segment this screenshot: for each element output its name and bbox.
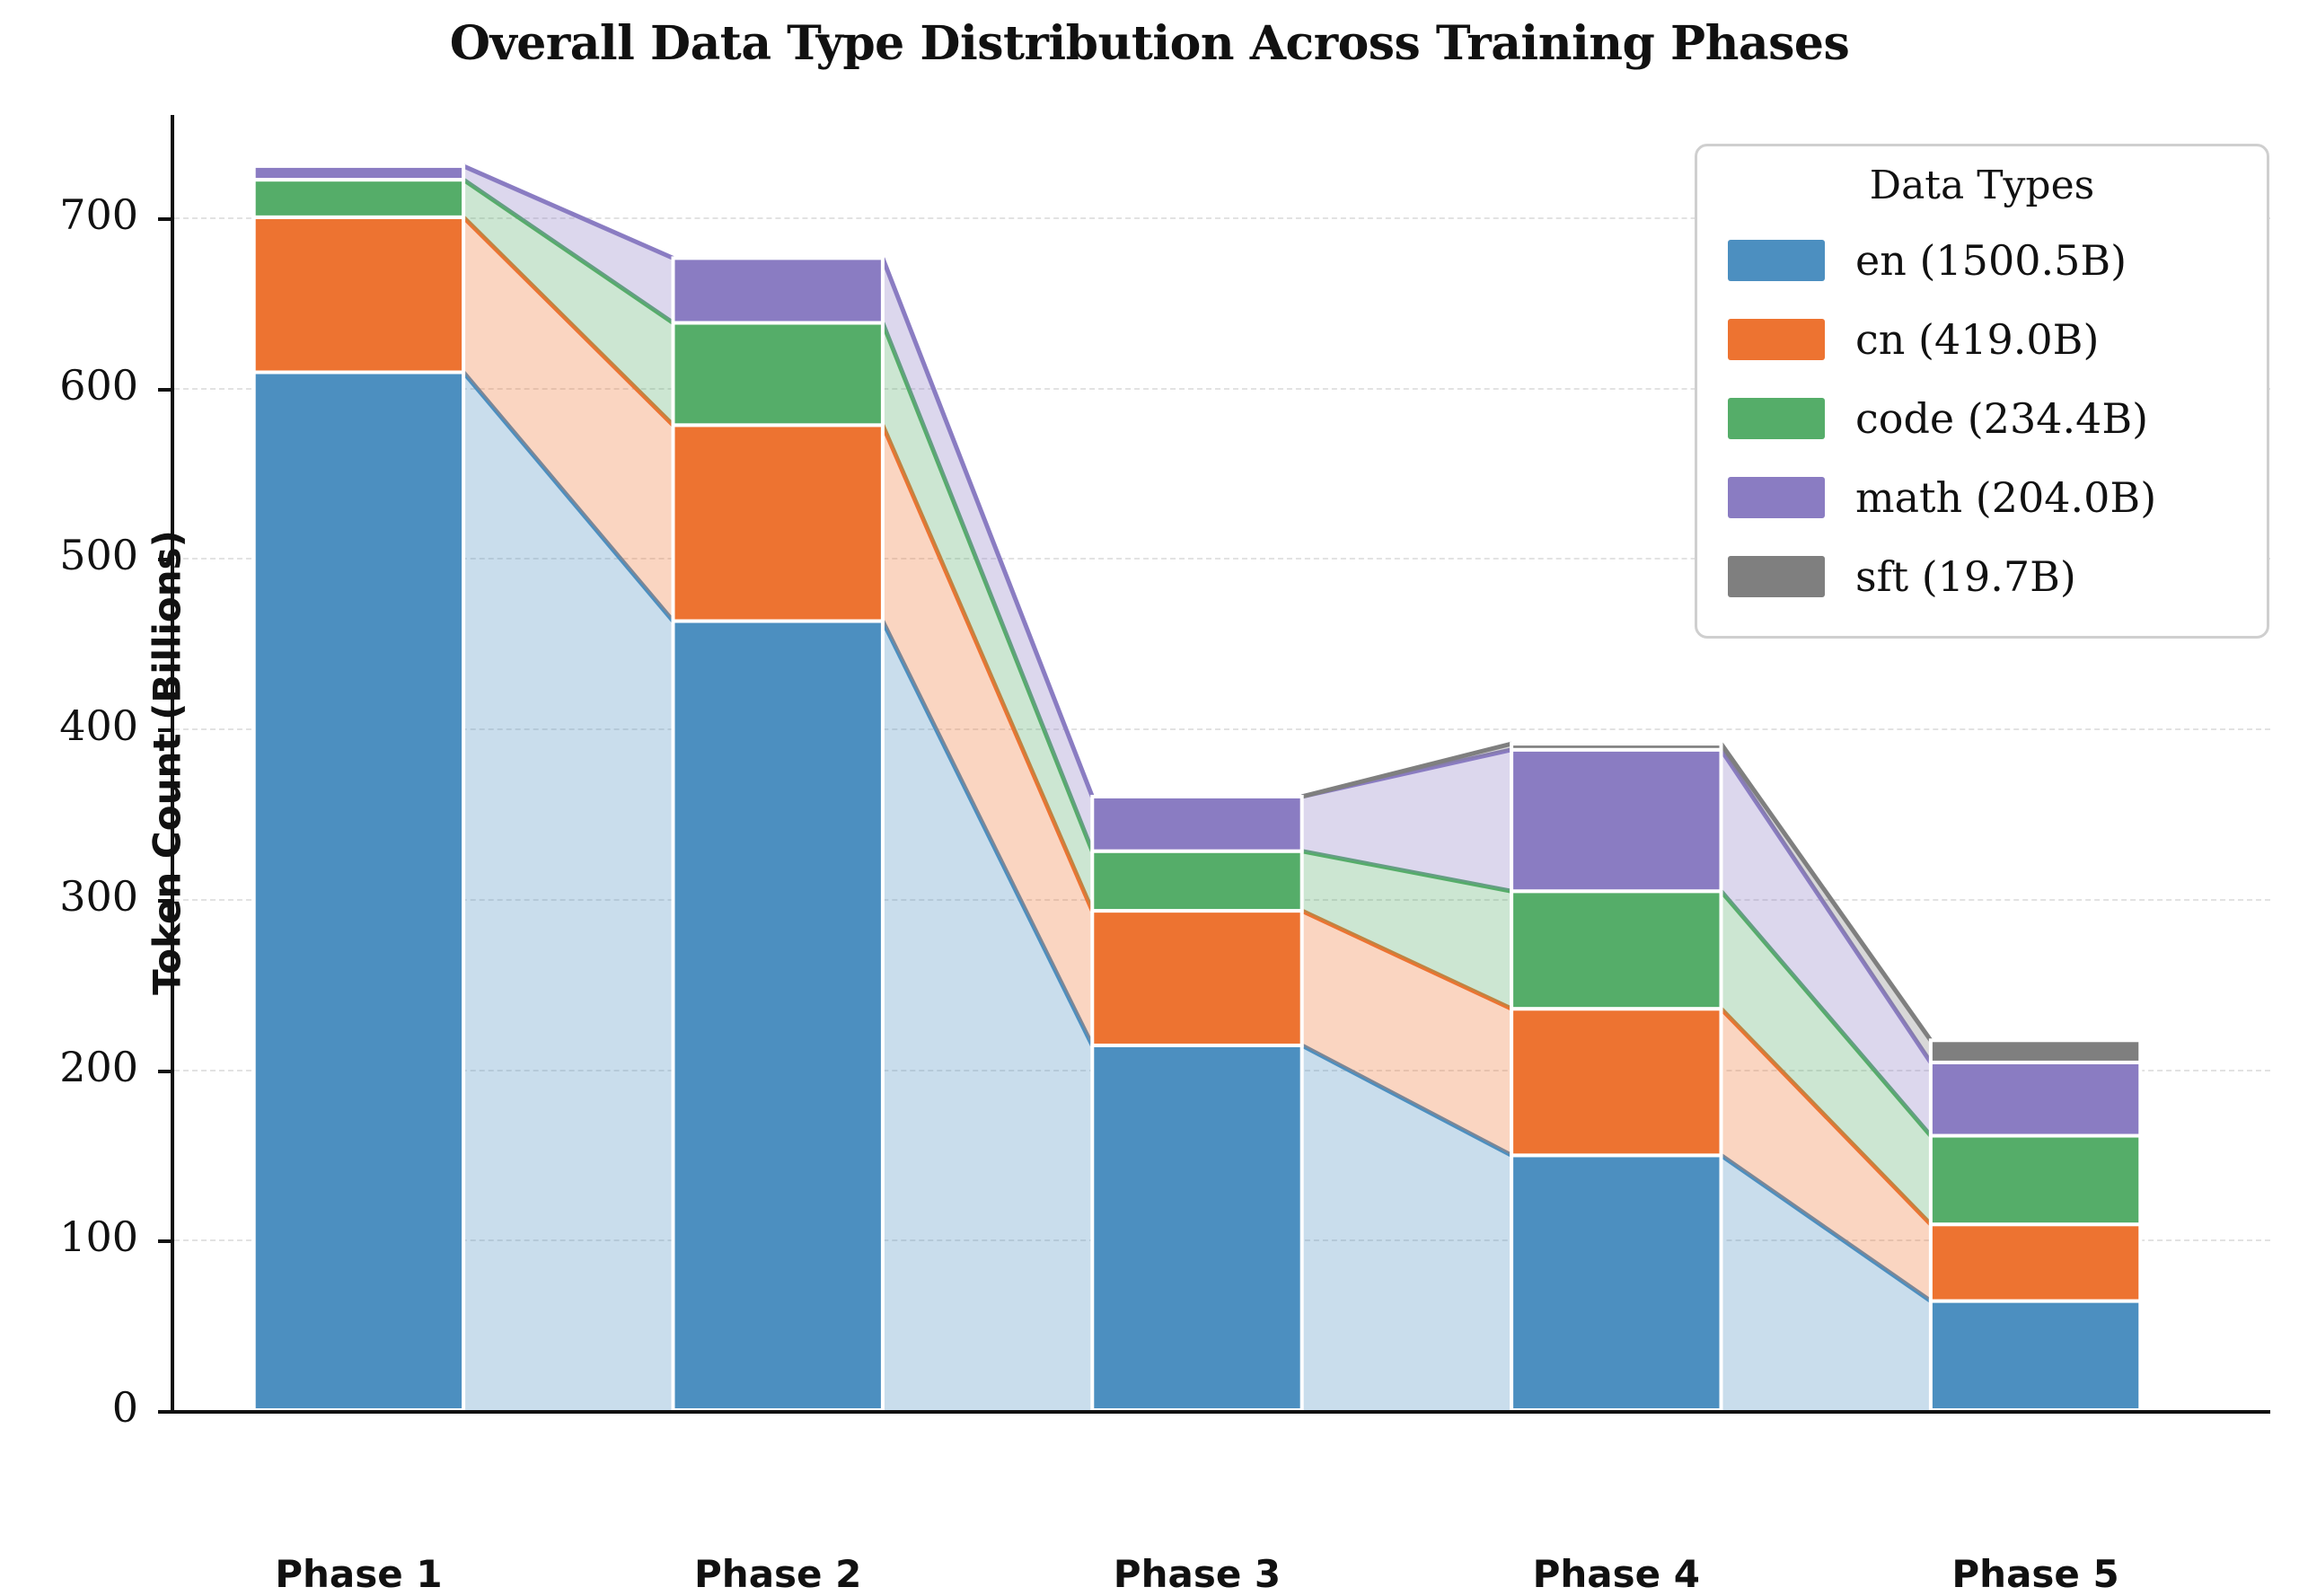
y-tick-label: 700 bbox=[0, 190, 138, 239]
legend-swatch-icon bbox=[1728, 240, 1825, 281]
legend-title: Data Types bbox=[1721, 163, 2243, 208]
legend-item[interactable]: code (234.4B) bbox=[1721, 379, 2243, 458]
bar-segment-cn-phase2[interactable] bbox=[673, 425, 882, 621]
legend-items: en (1500.5B)cn (419.0B)code (234.4B)math… bbox=[1721, 221, 2243, 616]
legend-item[interactable]: en (1500.5B) bbox=[1721, 221, 2243, 300]
y-tick-mark bbox=[158, 217, 174, 221]
bar-segment-en-phase2[interactable] bbox=[673, 622, 882, 1410]
bar-segment-en-phase4[interactable] bbox=[1511, 1155, 1721, 1410]
bar-segment-math-phase1[interactable] bbox=[254, 166, 463, 180]
legend-swatch-icon bbox=[1728, 477, 1825, 518]
bar-segment-math-phase4[interactable] bbox=[1511, 750, 1721, 891]
legend-swatch-icon bbox=[1728, 319, 1825, 360]
y-tick-label: 600 bbox=[0, 361, 138, 410]
x-tick-label: Phase 5 bbox=[1951, 1552, 2118, 1596]
legend-swatch-icon bbox=[1728, 556, 1825, 597]
y-tick-label: 200 bbox=[0, 1043, 138, 1091]
bar-segment-cn-phase3[interactable] bbox=[1092, 911, 1301, 1045]
y-tick-label: 400 bbox=[0, 701, 138, 750]
bar-segment-sft-phase4[interactable] bbox=[1511, 744, 1721, 750]
y-tick-mark bbox=[158, 1410, 174, 1414]
legend-item[interactable]: sft (19.7B) bbox=[1721, 537, 2243, 616]
legend-item[interactable]: math (204.0B) bbox=[1721, 458, 2243, 537]
bar-segment-sft-phase5[interactable] bbox=[1931, 1040, 2140, 1063]
bar-segment-code-phase4[interactable] bbox=[1511, 891, 1721, 1009]
bar-segment-cn-phase1[interactable] bbox=[254, 217, 463, 373]
y-axis-label: Token Count (Billions) bbox=[145, 530, 189, 995]
y-tick-mark bbox=[158, 1239, 174, 1243]
bar-segment-code-phase2[interactable] bbox=[673, 322, 882, 425]
bar-segment-cn-phase5[interactable] bbox=[1931, 1224, 2140, 1301]
bar-segment-code-phase3[interactable] bbox=[1092, 851, 1301, 911]
y-tick-mark bbox=[158, 388, 174, 392]
x-tick-label: Phase 4 bbox=[1533, 1552, 1700, 1596]
legend-item-label: sft (19.7B) bbox=[1855, 552, 2076, 601]
chart-root: Overall Data Type Distribution Across Tr… bbox=[0, 0, 2299, 1517]
y-tick-label: 300 bbox=[0, 872, 138, 921]
x-tick-label: Phase 2 bbox=[694, 1552, 861, 1596]
legend-item-label: cn (419.0B) bbox=[1855, 315, 2099, 364]
y-tick-label: 0 bbox=[0, 1383, 138, 1432]
bar-segment-cn-phase4[interactable] bbox=[1511, 1009, 1721, 1155]
bar-segment-en-phase3[interactable] bbox=[1092, 1045, 1301, 1410]
x-tick-label: Phase 3 bbox=[1114, 1552, 1281, 1596]
page-title: Overall Data Type Distribution Across Tr… bbox=[0, 16, 2299, 71]
y-tick-label: 100 bbox=[0, 1212, 138, 1261]
legend-item-label: code (234.4B) bbox=[1855, 394, 2148, 443]
bar-segment-math-phase5[interactable] bbox=[1931, 1063, 2140, 1136]
legend-item-label: en (1500.5B) bbox=[1855, 236, 2127, 285]
legend: Data Types en (1500.5B)cn (419.0B)code (… bbox=[1695, 144, 2269, 639]
x-tick-label: Phase 1 bbox=[275, 1552, 442, 1596]
bar-segment-en-phase5[interactable] bbox=[1931, 1301, 2140, 1410]
legend-item[interactable]: cn (419.0B) bbox=[1721, 300, 2243, 379]
legend-item-label: math (204.0B) bbox=[1855, 473, 2156, 522]
bar-segment-en-phase1[interactable] bbox=[254, 373, 463, 1410]
bar-segment-code-phase5[interactable] bbox=[1931, 1136, 2140, 1225]
legend-swatch-icon bbox=[1728, 398, 1825, 439]
bar-segment-math-phase3[interactable] bbox=[1092, 797, 1301, 851]
bar-segment-math-phase2[interactable] bbox=[673, 258, 882, 322]
y-tick-mark bbox=[158, 1070, 174, 1073]
bar-segment-code-phase1[interactable] bbox=[254, 180, 463, 217]
y-tick-label: 500 bbox=[0, 531, 138, 579]
